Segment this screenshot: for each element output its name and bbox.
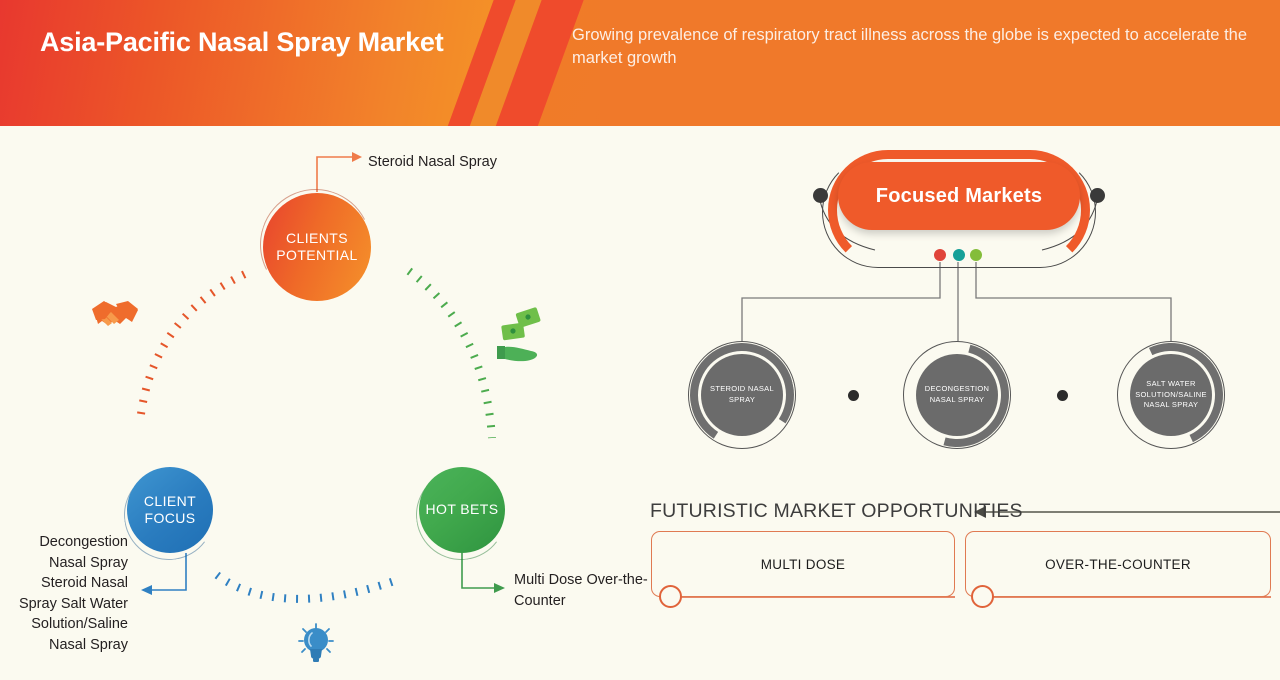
connector-client-focus: [141, 553, 186, 595]
connector-clients-potential: [317, 152, 362, 192]
market-circle-label: SALT WATER SOLUTION/SALINE NASAL SPRAY: [1130, 354, 1212, 436]
market-circle-decongestion-nasal-spray[interactable]: DECONGESTION NASAL SPRAY: [903, 341, 1011, 449]
futuristic-market-opportunities-title: FUTURISTIC MARKET OPPORTUNITIES: [650, 500, 1023, 523]
node-client-focus[interactable]: CLIENT FOCUS: [127, 467, 213, 553]
connector-dot-red: [934, 249, 946, 261]
focused-markets-pill[interactable]: Focused Markets: [838, 162, 1080, 230]
separator-dot-1: [848, 390, 859, 401]
market-circle-label: STEROID NASAL SPRAY: [701, 354, 783, 436]
market-circle-label: DECONGESTION NASAL SPRAY: [916, 354, 998, 436]
focused-markets-header: Focused Markets: [806, 150, 1112, 245]
opportunity-box-multi-dose[interactable]: MULTI DOSE: [651, 531, 955, 597]
money-in-hand-icon: [497, 307, 541, 361]
market-circle-steroid-nasal-spray[interactable]: STEROID NASAL SPRAY: [688, 341, 796, 449]
green-dotted-arc: [409, 271, 492, 438]
separator-dot-2: [1057, 390, 1068, 401]
focused-markets-title: Focused Markets: [876, 185, 1042, 208]
focused-markets-left-node-dot: [813, 188, 828, 203]
connector-dot-teal: [953, 249, 965, 261]
orange-dotted-arc: [141, 274, 245, 414]
focused-markets-right-node-dot: [1090, 188, 1105, 203]
infographic-root: Asia-Pacific Nasal Spray Market Growing …: [0, 0, 1280, 680]
opportunity-box-label: MULTI DOSE: [761, 557, 846, 572]
lightbulb-icon: [299, 624, 333, 662]
opportunity-knob-over-the-counter: [971, 585, 994, 608]
header-subtitle: Growing prevalence of respiratory tract …: [572, 24, 1252, 71]
node-hot-bets[interactable]: HOT BETS: [419, 467, 505, 553]
blue-dotted-arc: [217, 575, 400, 599]
handshake-icon: [92, 301, 138, 326]
connector-hot-bets: [462, 553, 505, 593]
node-clients-potential-label: CLIENTS POTENTIAL: [263, 230, 371, 265]
opportunity-box-over-the-counter[interactable]: OVER-THE-COUNTER: [965, 531, 1271, 597]
callout-client-focus: Decongestion Nasal Spray Steroid Nasal S…: [8, 532, 128, 655]
opportunity-knob-multi-dose: [659, 585, 682, 608]
market-circle-salt-water-solution-saline-nasal-spray[interactable]: SALT WATER SOLUTION/SALINE NASAL SPRAY: [1117, 341, 1225, 449]
page-title: Asia-Pacific Nasal Spray Market: [40, 25, 460, 61]
callout-clients-potential: Steroid Nasal Spray: [368, 152, 497, 173]
node-clients-potential[interactable]: CLIENTS POTENTIAL: [263, 193, 371, 301]
market-tree-connectors: [742, 262, 1171, 341]
node-client-focus-label: CLIENT FOCUS: [127, 493, 213, 528]
node-hot-bets-label: HOT BETS: [426, 501, 499, 518]
connector-dot-green: [970, 249, 982, 261]
opportunity-box-label: OVER-THE-COUNTER: [1045, 557, 1191, 572]
header-banner: Asia-Pacific Nasal Spray Market Growing …: [0, 0, 1280, 126]
callout-hot-bets: Multi Dose Over-the-Counter: [514, 570, 674, 611]
